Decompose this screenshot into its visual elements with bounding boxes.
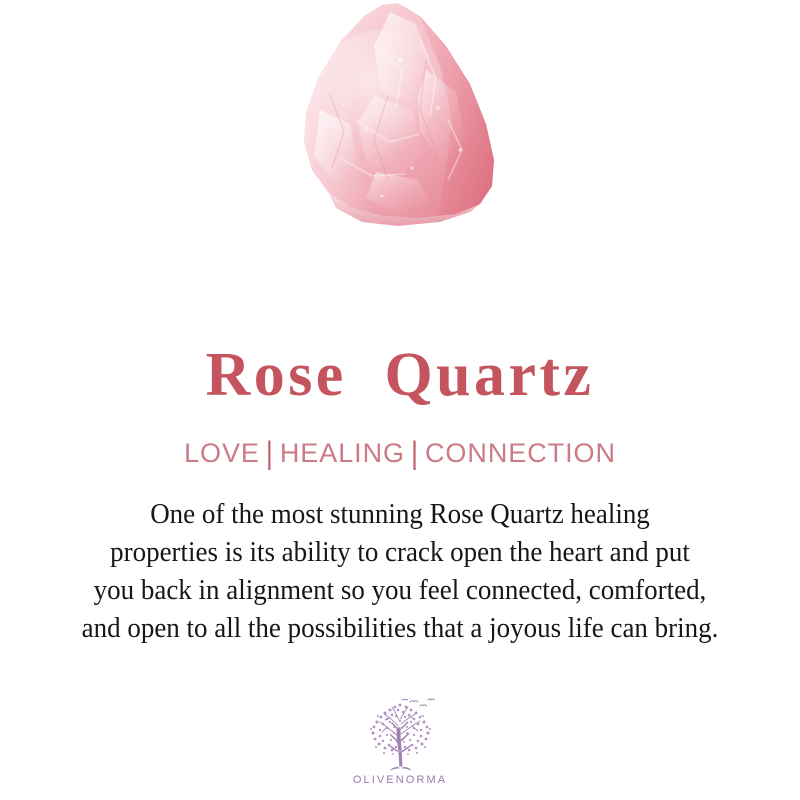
- page-title: Rose Quartz: [206, 300, 595, 406]
- keyword-separator-1: |: [260, 438, 280, 470]
- rose-quartz-crystal-image: [270, 0, 530, 300]
- bird-icon: [402, 699, 435, 706]
- keyword-connection: CONNECTION: [425, 438, 616, 468]
- description-paragraph: One of the most stunning Rose Quartz hea…: [15, 467, 785, 647]
- description-line: properties is its ability to crack open …: [42, 533, 758, 571]
- brand-logo: OLIVENORMA: [0, 696, 800, 786]
- rose-quartz-poster: Rose Quartz LOVE|HEALING|CONNECTION One …: [0, 0, 800, 800]
- brand-wordmark: OLIVENORMA: [353, 775, 447, 786]
- keyword-subtitle: LOVE|HEALING|CONNECTION: [184, 406, 616, 467]
- tree-of-life-icon: [354, 696, 446, 772]
- product-image-area: [0, 0, 800, 300]
- keyword-separator-2: |: [405, 438, 425, 470]
- description-line: you back in alignment so you feel connec…: [42, 571, 758, 609]
- keyword-love: LOVE: [184, 438, 260, 468]
- keyword-healing: HEALING: [280, 438, 405, 468]
- description-line: and open to all the possibilities that a…: [42, 609, 758, 647]
- description-line: One of the most stunning Rose Quartz hea…: [42, 495, 758, 533]
